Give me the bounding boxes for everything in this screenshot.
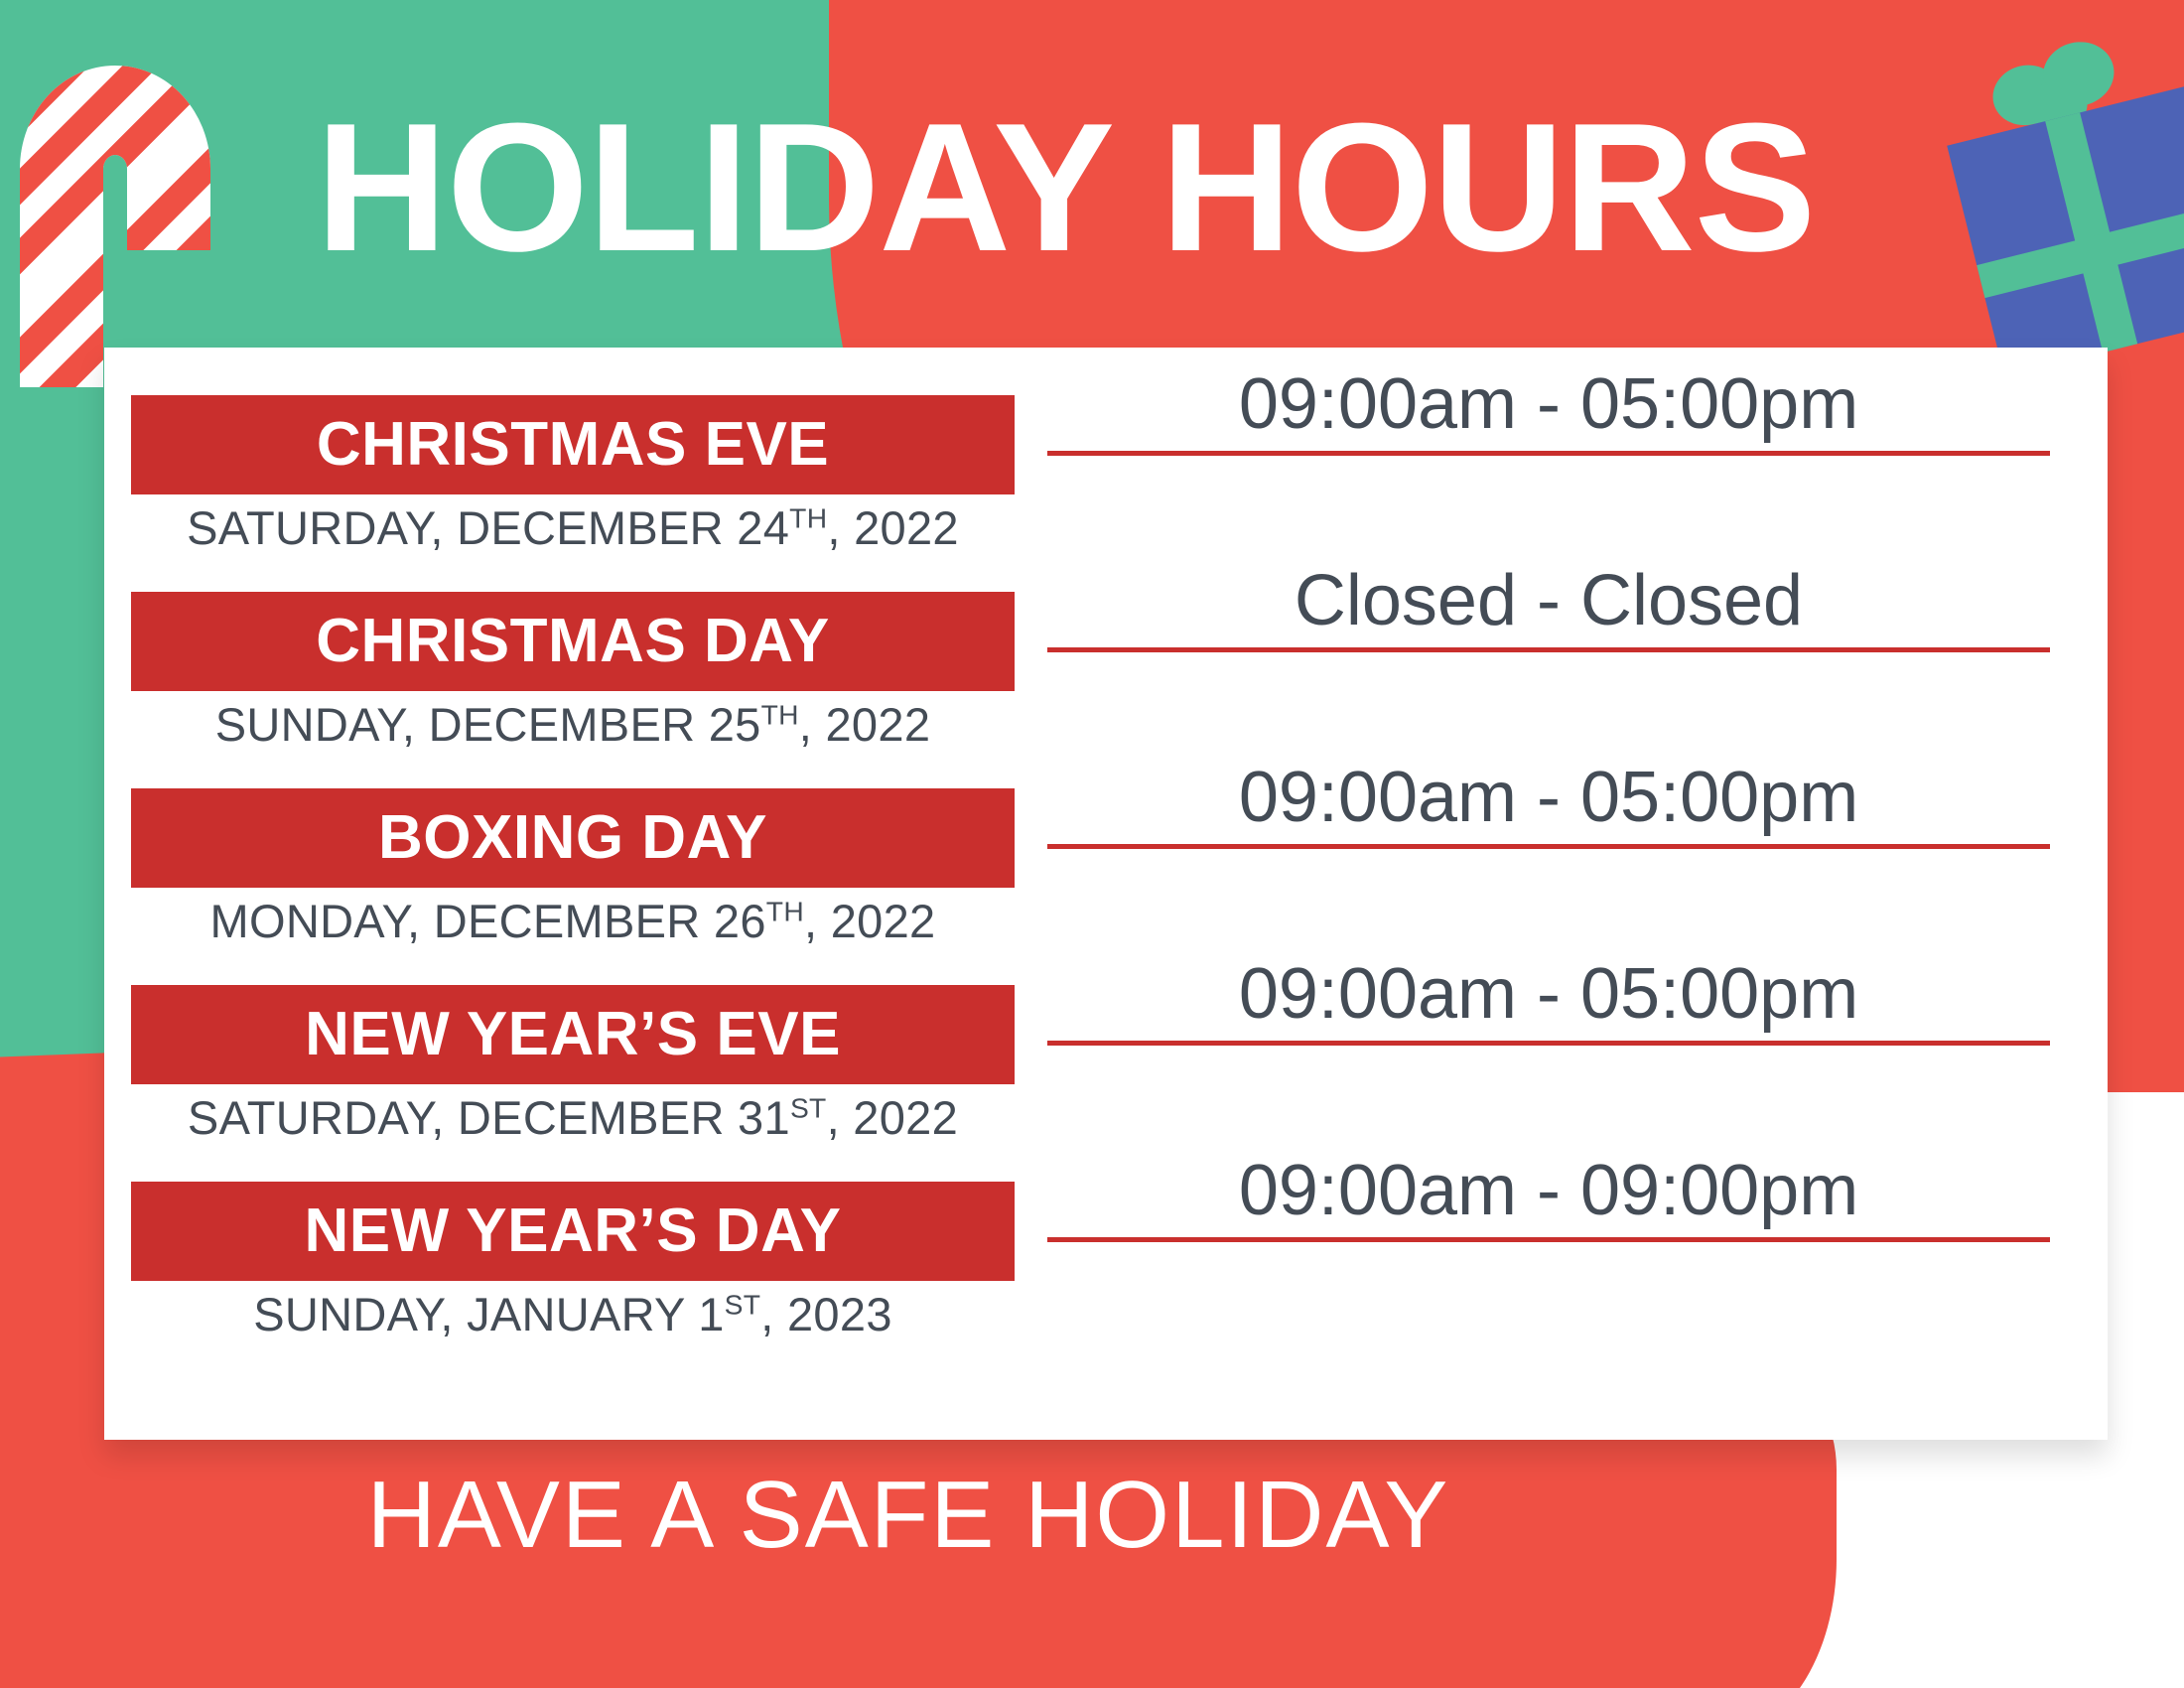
hours-underline bbox=[1047, 647, 2050, 652]
holiday-hours-poster: HOLIDAY HOURS CHRISTMAS EVE SATURDAY, DE… bbox=[0, 0, 2184, 1688]
schedule-rows: CHRISTMAS EVE SATURDAY, DECEMBER 24TH, 2… bbox=[104, 348, 2108, 1440]
holiday-date: MONDAY, DECEMBER 26TH, 2022 bbox=[131, 896, 1015, 947]
holiday-label-bar: CHRISTMAS DAY bbox=[131, 592, 1015, 691]
holiday-date: SUNDAY, JANUARY 1ST, 2023 bbox=[131, 1289, 1015, 1340]
holiday-hours: 09:00am - 05:00pm bbox=[1047, 957, 2050, 1041]
holiday-date-prefix: SATURDAY, DECEMBER 24 bbox=[187, 501, 789, 554]
holiday-date-ordinal: TH bbox=[789, 501, 827, 533]
holiday-name: CHRISTMAS DAY bbox=[316, 611, 830, 672]
holiday-date-suffix: , 2022 bbox=[827, 501, 958, 554]
holiday-date: SUNDAY, DECEMBER 25TH, 2022 bbox=[131, 699, 1015, 751]
holiday-name: CHRISTMAS EVE bbox=[317, 414, 829, 476]
table-row: NEW YEAR’S DAY SUNDAY, JANUARY 1ST, 2023… bbox=[104, 1182, 2108, 1378]
holiday-hours-cell: Closed - Closed bbox=[1047, 564, 2050, 652]
holiday-label-bar: BOXING DAY bbox=[131, 788, 1015, 888]
page-title: HOLIDAY HOURS bbox=[316, 95, 1944, 278]
holiday-label-bar: NEW YEAR’S DAY bbox=[131, 1182, 1015, 1281]
holiday-date-ordinal: ST bbox=[790, 1091, 827, 1123]
hours-underline bbox=[1047, 844, 2050, 849]
holiday-hours-cell: 09:00am - 05:00pm bbox=[1047, 761, 2050, 849]
holiday-hours: 09:00am - 05:00pm bbox=[1047, 367, 2050, 451]
footer-message: HAVE A SAFE HOLIDAY bbox=[0, 1468, 1817, 1563]
holiday-hours-cell: 09:00am - 09:00pm bbox=[1047, 1154, 2050, 1242]
holiday-date: SATURDAY, DECEMBER 24TH, 2022 bbox=[131, 502, 1015, 554]
holiday-date-prefix: MONDAY, DECEMBER 26 bbox=[210, 895, 766, 947]
holiday-name: NEW YEAR’S EVE bbox=[305, 1004, 841, 1065]
holiday-date-prefix: SUNDAY, DECEMBER 25 bbox=[215, 698, 761, 751]
holiday-date-suffix: , 2022 bbox=[799, 698, 930, 751]
schedule-card: CHRISTMAS EVE SATURDAY, DECEMBER 24TH, 2… bbox=[104, 348, 2108, 1440]
holiday-name: BOXING DAY bbox=[378, 807, 767, 869]
holiday-hours-cell: 09:00am - 05:00pm bbox=[1047, 367, 2050, 456]
hours-underline bbox=[1047, 451, 2050, 456]
holiday-hours: Closed - Closed bbox=[1047, 564, 2050, 647]
holiday-date-ordinal: TH bbox=[761, 698, 799, 730]
holiday-name: NEW YEAR’S DAY bbox=[304, 1200, 841, 1262]
holiday-label-bar: NEW YEAR’S EVE bbox=[131, 985, 1015, 1084]
holiday-label-bar: CHRISTMAS EVE bbox=[131, 395, 1015, 494]
table-row: CHRISTMAS EVE SATURDAY, DECEMBER 24TH, 2… bbox=[104, 395, 2108, 592]
holiday-hours: 09:00am - 09:00pm bbox=[1047, 1154, 2050, 1237]
holiday-date-suffix: , 2022 bbox=[827, 1091, 958, 1144]
candy-cane-icon bbox=[0, 20, 306, 387]
holiday-date-suffix: , 2023 bbox=[760, 1288, 891, 1340]
hours-underline bbox=[1047, 1041, 2050, 1046]
holiday-date: SATURDAY, DECEMBER 31ST, 2022 bbox=[131, 1092, 1015, 1144]
holiday-date-prefix: SUNDAY, JANUARY 1 bbox=[253, 1288, 724, 1340]
hours-underline bbox=[1047, 1237, 2050, 1242]
holiday-hours-cell: 09:00am - 05:00pm bbox=[1047, 957, 2050, 1046]
holiday-date-ordinal: TH bbox=[766, 895, 804, 926]
holiday-hours: 09:00am - 05:00pm bbox=[1047, 761, 2050, 844]
holiday-date-prefix: SATURDAY, DECEMBER 31 bbox=[188, 1091, 790, 1144]
holiday-date-suffix: , 2022 bbox=[804, 895, 935, 947]
holiday-date-ordinal: ST bbox=[725, 1288, 761, 1320]
gift-box-icon bbox=[1946, 40, 2184, 357]
